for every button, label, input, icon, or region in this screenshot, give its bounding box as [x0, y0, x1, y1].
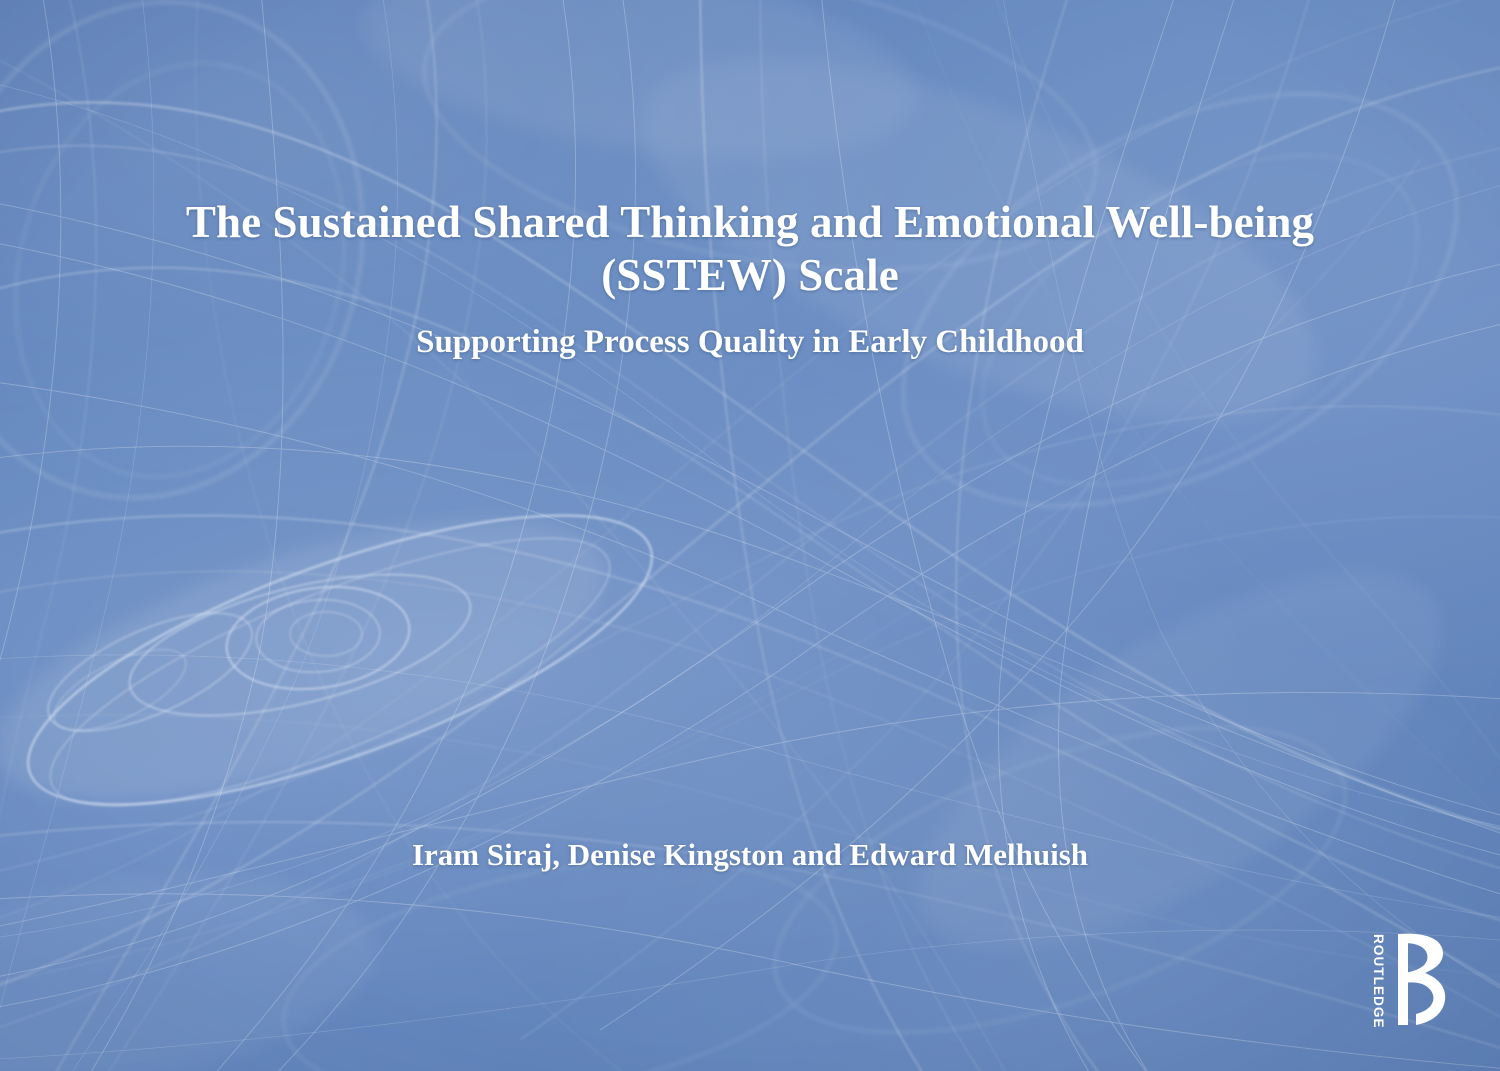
title-line-1: The Sustained Shared Thinking and Emotio…	[110, 196, 1390, 249]
publisher-name: ROUTLEDGE	[1372, 934, 1386, 1029]
cover-authors: Iram Siraj, Denise Kingston and Edward M…	[0, 836, 1500, 874]
cover-text-layer: The Sustained Shared Thinking and Emotio…	[0, 0, 1500, 1071]
title-line-2: (SSTEW) Scale	[110, 249, 1390, 302]
cover-title: The Sustained Shared Thinking and Emotio…	[0, 196, 1500, 302]
routledge-r-face-icon	[1392, 932, 1454, 1026]
publisher-logo: ROUTLEDGE	[1368, 932, 1478, 1028]
cover-subtitle: Supporting Process Quality in Early Chil…	[0, 322, 1500, 362]
book-cover: The Sustained Shared Thinking and Emotio…	[0, 0, 1500, 1071]
publisher-wordmark: ROUTLEDGE	[1368, 932, 1388, 1024]
